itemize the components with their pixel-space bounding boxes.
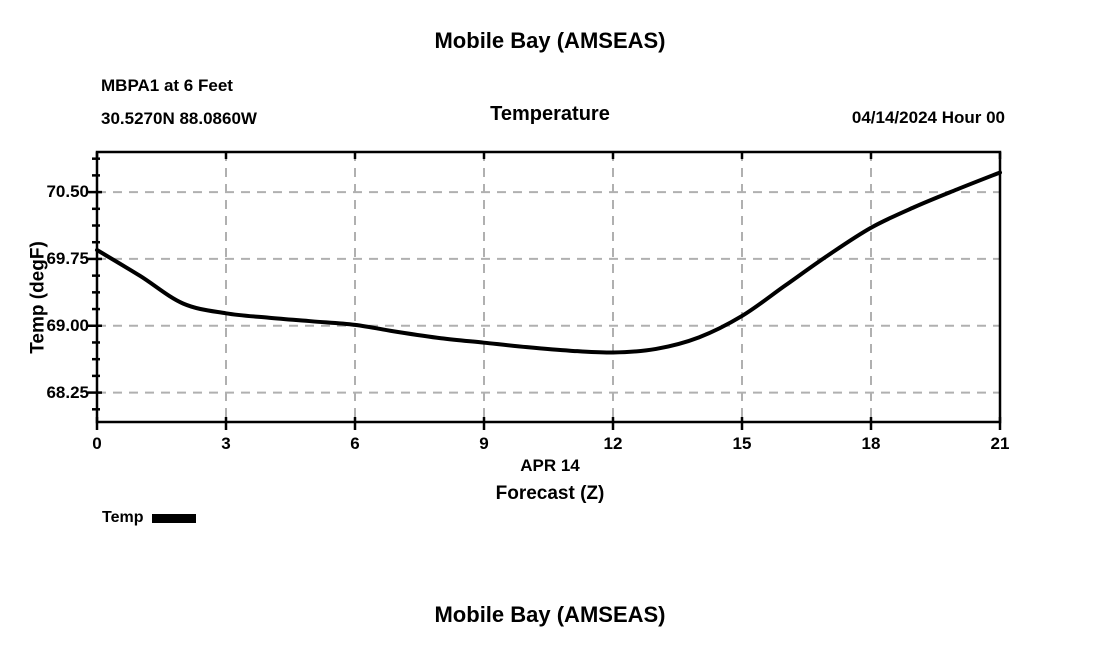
y-tick-label: 69.00 — [0, 316, 89, 336]
plot-area — [0, 0, 1100, 650]
x-axis-label: Forecast (Z) — [0, 484, 1100, 503]
legend-swatch-temp — [152, 514, 196, 523]
x-tick-label: 18 — [841, 434, 901, 454]
footer-title: Mobile Bay (AMSEAS) — [0, 604, 1100, 626]
x-tick-label: 0 — [67, 434, 127, 454]
y-gridlines — [97, 192, 1000, 392]
x-tick-label: 9 — [454, 434, 514, 454]
x-axis-date-label: APR 14 — [0, 457, 1100, 474]
y-tick-label: 68.25 — [0, 383, 89, 403]
x-tick-label: 15 — [712, 434, 772, 454]
chart-figure: Mobile Bay (AMSEAS) MBPA1 at 6 Feet 30.5… — [0, 0, 1100, 650]
x-tick-label: 6 — [325, 434, 385, 454]
y-tick-label: 69.75 — [0, 249, 89, 269]
legend: Temp — [102, 509, 196, 527]
legend-label: Temp — [102, 509, 143, 527]
x-major-ticks — [97, 152, 1000, 430]
x-tick-label: 12 — [583, 434, 643, 454]
x-tick-label: 21 — [970, 434, 1030, 454]
x-tick-label: 3 — [196, 434, 256, 454]
y-tick-label: 70.50 — [0, 182, 89, 202]
